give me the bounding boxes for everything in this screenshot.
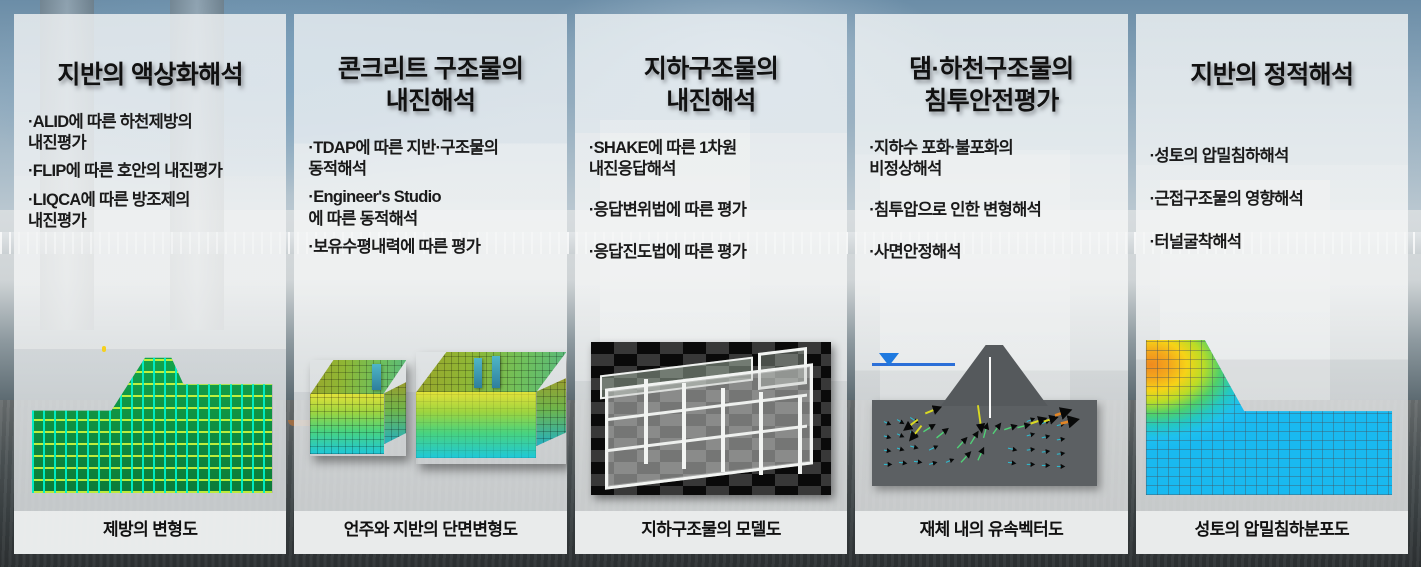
panel-title: 댐·하천구조물의 침투안전평가	[855, 35, 1127, 117]
figure-underground-structure-wireframe-model	[585, 338, 837, 503]
panel-bullet-list: ·ALID에 따른 하천제방의 내진평가 ·FLIP에 따른 호안의 내진평가 …	[14, 112, 286, 240]
retaining-wall-element	[372, 364, 381, 390]
wireframe-scene	[591, 342, 831, 495]
block-side-face	[536, 378, 566, 446]
mesh-grid	[1146, 340, 1392, 495]
figure-caption: 성토의 압밀침하분포도	[1136, 511, 1408, 554]
block-top-face	[310, 360, 406, 394]
panel-title: 지반의 정적해석	[1136, 35, 1408, 91]
spacer	[294, 266, 566, 338]
analysis-panel-board: 지반의 액상화해석 ·ALID에 따른 하천제방의 내진평가 ·FLIP에 따른…	[0, 0, 1421, 567]
list-item: ·ALID에 따른 하천제방의 내진평가	[28, 112, 282, 155]
block-top-face	[416, 352, 566, 392]
velocity-vector-field	[867, 342, 1111, 495]
list-item: ·응답변위법에 따른 평가	[589, 200, 843, 221]
list-item: ·성토의 압밀침하해석	[1150, 146, 1404, 167]
retaining-wall-element	[492, 356, 500, 388]
list-item: ·터널굴착해석	[1150, 232, 1404, 253]
mesh-grid	[310, 360, 406, 394]
mesh-grid	[310, 394, 384, 454]
panel-bullet-list: ·SHAKE에 따른 1차원 내진응답해석 ·응답변위법에 따른 평가 ·응답진…	[575, 138, 847, 284]
figure-caption: 언주와 지반의 단면변형도	[294, 511, 566, 554]
settlement-contour-mesh	[1146, 340, 1392, 495]
column	[682, 383, 686, 469]
levee-mesh-shape	[32, 346, 272, 493]
panel-row: 지반의 액상화해석 ·ALID에 따른 하천제방의 내진평가 ·FLIP에 따른…	[14, 14, 1408, 554]
soil-block-right	[416, 352, 566, 464]
panel-title: 콘크리트 구조물의 내진해석	[294, 35, 566, 117]
dam-scene	[867, 342, 1111, 495]
panel-static-analysis[interactable]: 지반의 정적해석 ·성토의 압밀침하해석 ·근접구조물의 영향해석 ·터널굴착해…	[1136, 14, 1408, 554]
mesh-grid	[536, 378, 566, 446]
list-item: ·지하수 포화·불포화의 비정상해석	[869, 138, 1123, 181]
panel-bullet-list: ·지하수 포화·불포화의 비정상해석 ·침투압으로 인한 변형해석 ·사면안정해…	[855, 138, 1127, 284]
spacer	[1136, 276, 1408, 338]
list-item: ·침투압으로 인한 변형해석	[869, 200, 1123, 221]
figure-caption: 제방의 변형도	[14, 511, 286, 554]
figure-canvas	[24, 338, 276, 503]
column	[644, 379, 648, 465]
figure-caption: 지하구조물의 모델도	[575, 511, 847, 554]
list-item: ·응답진도법에 따른 평가	[589, 242, 843, 263]
list-item: ·SHAKE에 따른 1차원 내진응답해석	[589, 138, 843, 181]
figure-canvas	[585, 338, 837, 503]
panel-liquefaction[interactable]: 지반의 액상화해석 ·ALID에 따른 하천제방의 내진평가 ·FLIP에 따른…	[14, 14, 286, 554]
column	[798, 397, 802, 474]
list-item: ·사면안정해석	[869, 242, 1123, 263]
figure-dam-seepage-velocity-vectors	[865, 338, 1117, 503]
block-front-face	[416, 392, 536, 458]
figure-consolidation-settlement-contour-mesh	[1146, 338, 1398, 503]
panel-title: 지반의 액상화해석	[14, 35, 286, 91]
column	[721, 388, 725, 472]
list-item: ·TDAP에 따른 지반·구조물의 동적해석	[308, 138, 562, 181]
mesh-grid	[384, 382, 406, 444]
panel-dam-river-seepage[interactable]: 댐·하천구조물의 침투안전평가 ·지하수 포화·불포화의 비정상해석 ·침투압으…	[855, 14, 1127, 554]
mesh-grid	[416, 352, 566, 392]
block-side-face	[384, 382, 406, 444]
list-item: ·보유수평내력에 따른 평가	[308, 237, 562, 258]
figure-canvas	[865, 338, 1117, 503]
panel-bullet-list: ·성토의 압밀침하해석 ·근접구조물의 영향해석 ·터널굴착해석	[1136, 112, 1408, 276]
figure-caption: 재체 내의 유속벡터도	[855, 511, 1127, 554]
list-item: ·LIQCA에 따른 방조제의 내진평가	[28, 190, 282, 233]
levee-crest-marker	[102, 346, 106, 352]
soil-block-left	[310, 360, 406, 456]
spacer	[855, 283, 1127, 338]
list-item: ·FLIP에 따른 호안의 내진평가	[28, 161, 282, 182]
spacer	[14, 240, 286, 338]
figure-canvas	[304, 338, 556, 503]
block-front-face	[310, 394, 384, 454]
list-item: ·Engineer's Studio 에 따른 동적해석	[308, 187, 562, 230]
retaining-wall-element	[474, 358, 482, 388]
figure-levee-deformation-mesh	[24, 338, 276, 503]
panel-underground-structure[interactable]: 지하구조물의 내진해석 ·SHAKE에 따른 1차원 내진응답해석 ·응답변위법…	[575, 14, 847, 554]
panel-concrete-structure[interactable]: 콘크리트 구조물의 내진해석 ·TDAP에 따른 지반·구조물의 동적해석 ·E…	[294, 14, 566, 554]
panel-title: 지하구조물의 내진해석	[575, 35, 847, 117]
figure-canvas	[1146, 338, 1398, 503]
column	[759, 392, 763, 475]
mesh-grid	[416, 392, 536, 458]
figure-ground-section-deformation-blocks	[304, 338, 556, 503]
spacer	[575, 283, 847, 338]
list-item: ·근접구조물의 영향해석	[1150, 189, 1404, 210]
panel-bullet-list: ·TDAP에 따른 지반·구조물의 동적해석 ·Engineer's Studi…	[294, 138, 566, 266]
